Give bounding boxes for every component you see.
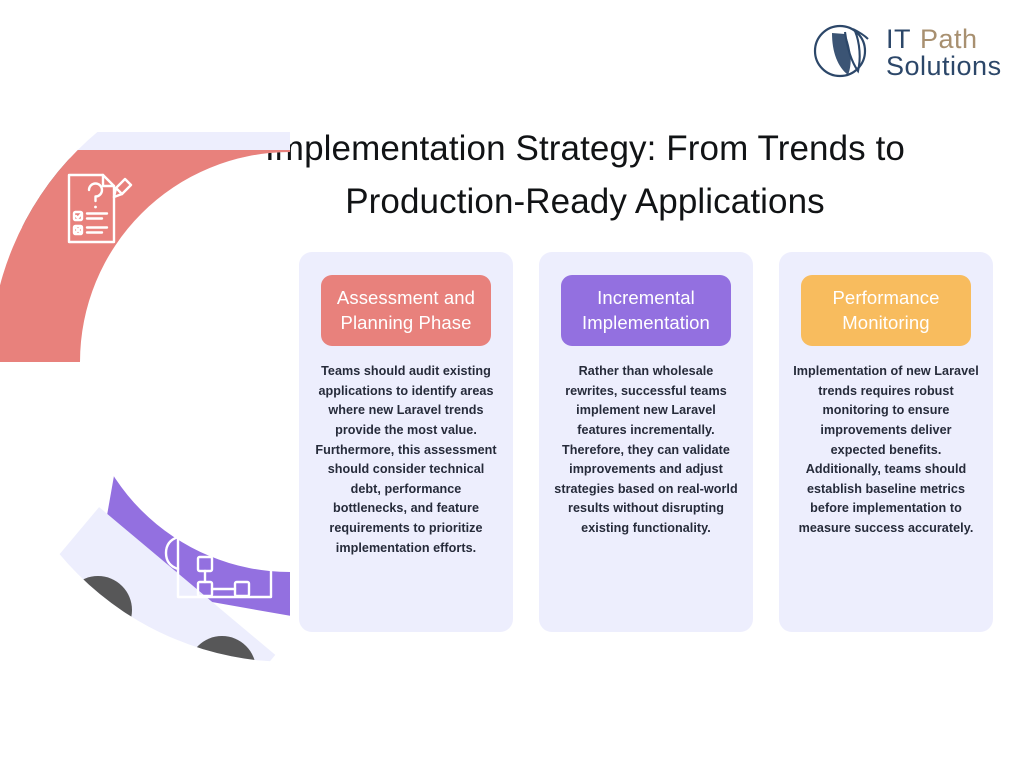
card-heading-pill-incremental: Incremental Implementation (561, 275, 731, 346)
brand-logo: ITPath Solutions (812, 16, 1018, 88)
card-heading-pill-monitoring: Performance Monitoring (801, 275, 971, 346)
card-body-assessment: Teams should audit existing applications… (313, 362, 499, 558)
page-title: Implementation Strategy: From Trends to … (190, 122, 980, 228)
info-card-assessment[interactable]: Assessment and Planning Phase Teams shou… (299, 252, 513, 632)
arc-shadow-middle-lower-2 (188, 636, 256, 704)
card-heading-pill-assessment: Assessment and Planning Phase (321, 275, 491, 346)
monitor-bar-chart-icon (67, 623, 135, 694)
infographic-canvas: ITPath Solutions Implementation Strategy… (0, 0, 1024, 768)
process-arc-graphic (0, 132, 290, 732)
arc-shadow-middle-upper (104, 356, 176, 424)
brand-path: Path (920, 24, 978, 54)
info-card-incremental[interactable]: Incremental Implementation Rather than w… (539, 252, 753, 632)
info-card-monitoring[interactable]: Performance Monitoring Implementation of… (779, 252, 993, 632)
arc-shadow-middle-upper-2 (252, 360, 290, 428)
card-body-incremental: Rather than wholesale rewrites, successf… (553, 362, 739, 539)
brand-solutions: Solutions (886, 53, 1002, 80)
arc-segment-coral (0, 150, 290, 362)
it-path-solutions-mark-icon (812, 19, 878, 85)
arc-shadow-bottom (0, 730, 30, 732)
card-body-monitoring: Implementation of new Laravel trends req… (793, 362, 979, 539)
brand-wordmark: ITPath Solutions (886, 24, 1002, 80)
arc-connector-middle-upper (101, 337, 290, 477)
arc-connector-bottom (0, 709, 30, 732)
brand-it: IT (886, 24, 911, 54)
